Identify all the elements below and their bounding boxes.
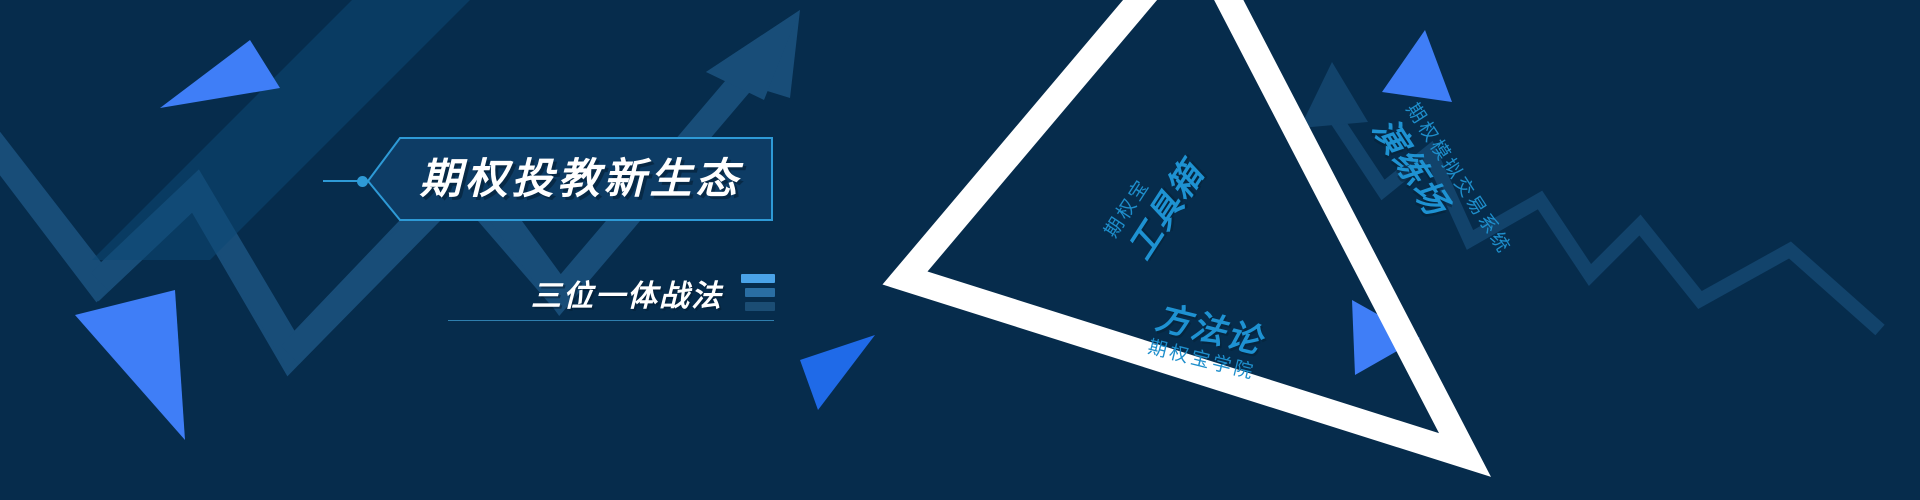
headline-box: 期权投教新生态 [390, 136, 765, 222]
background-decoration [0, 0, 1920, 500]
three-bars-icon [741, 274, 775, 313]
subheadline-text: 三位一体战法 [531, 271, 723, 315]
three-bars-icon-bar-1 [741, 274, 775, 283]
subheadline-row: 三位一体战法 [445, 262, 775, 324]
connector-dot-icon [357, 176, 368, 187]
page-title: 期权投教新生态 [413, 158, 741, 200]
three-bars-icon-bar-2 [745, 288, 775, 297]
three-bars-icon-bar-3 [745, 302, 775, 311]
subheadline-divider [448, 320, 774, 321]
promo-banner: 期权投教新生态 三位一体战法 期权宝 工具箱 期权模拟交易系统 演练场 方法论 … [0, 0, 1920, 500]
